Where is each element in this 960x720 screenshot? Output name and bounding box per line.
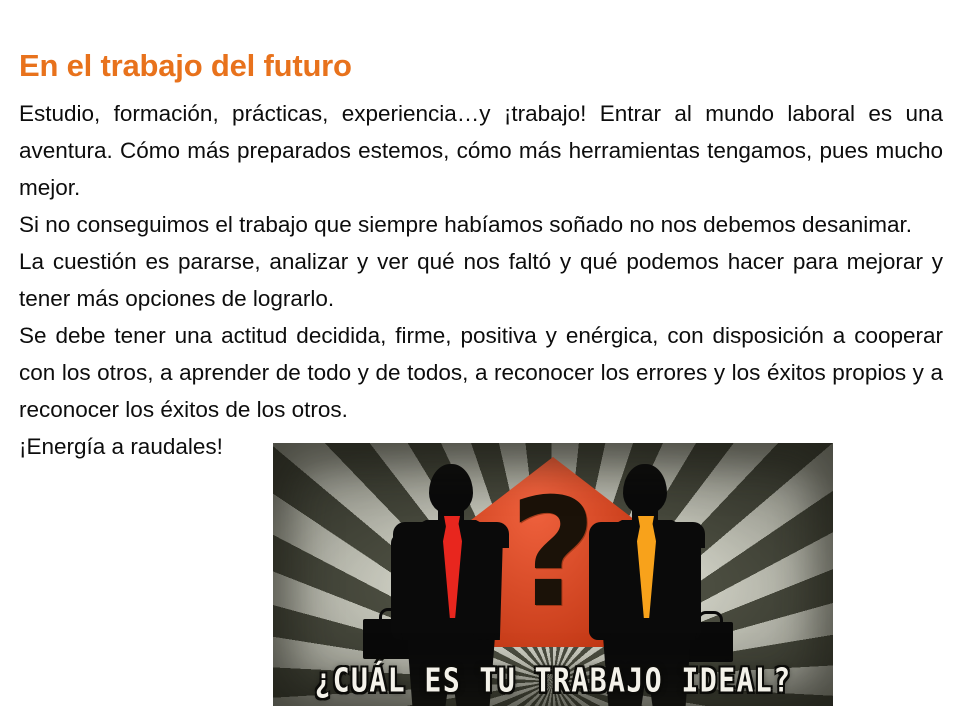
page-title: En el trabajo del futuro bbox=[19, 50, 719, 83]
picture-caption: ¿CUÁL ES TU TRABAJO IDEAL? bbox=[273, 661, 833, 700]
body-paragraph-1: Estudio, formación, prácticas, experienc… bbox=[19, 95, 943, 206]
slide-canvas: En el trabajo del futuro Estudio, formac… bbox=[0, 0, 960, 720]
body-paragraph-4: Se debe tener una actitud decidida, firm… bbox=[19, 317, 943, 428]
slide-picture-ideal-job: ? ¿CUÁL ES TU TRABAJO bbox=[273, 443, 833, 706]
body-paragraph-3: La cuestión es pararse, analizar y ver q… bbox=[19, 243, 943, 317]
body-paragraph-2: Si no conseguimos el trabajo que siempre… bbox=[19, 206, 943, 243]
slide-body-text: Estudio, formación, prácticas, experienc… bbox=[19, 95, 943, 465]
